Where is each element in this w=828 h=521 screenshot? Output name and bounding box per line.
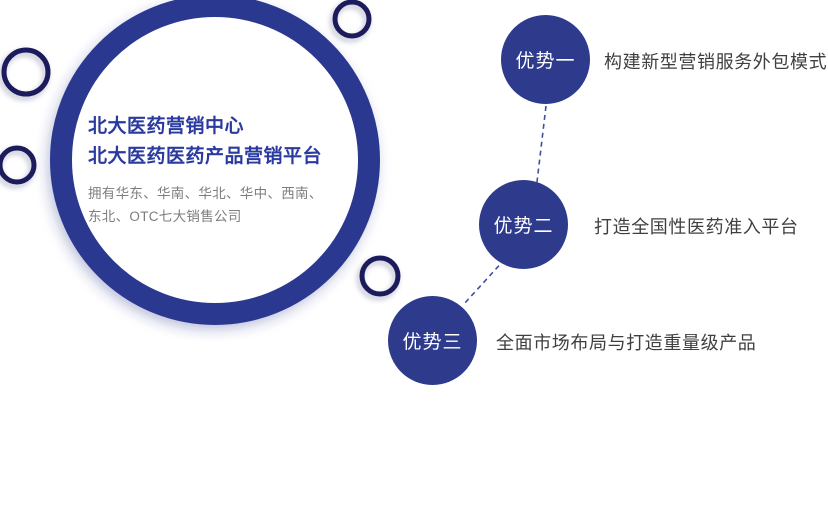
advantage-description-1: 构建新型营销服务外包模式 [604, 48, 827, 74]
hero-subtitle-line-2: 东北、OTC七大销售公司 [88, 205, 338, 228]
infographic-canvas: 北大医药营销中心 北大医药医药产品营销平台 拥有华东、华南、华北、华中、西南、 … [0, 0, 828, 521]
connector-advantage-2-3 [464, 259, 505, 304]
advantage-badge-1[interactable]: 优势一 [501, 15, 590, 104]
ring-top-icon [335, 2, 369, 36]
decorative-artwork [0, 0, 828, 521]
hero-subtitle-line-1: 拥有华东、华南、华北、华中、西南、 [88, 182, 338, 205]
hero-title-line-1: 北大医药营销中心 [88, 112, 338, 142]
hero-text-block: 北大医药营销中心 北大医药医药产品营销平台 拥有华东、华南、华北、华中、西南、 … [88, 112, 338, 228]
advantage-description-3: 全面市场布局与打造重量级产品 [496, 329, 756, 355]
advantage-description-2: 打造全国性医药准入平台 [594, 213, 799, 239]
advantage-badge-2[interactable]: 优势二 [479, 180, 568, 269]
ring-right-icon [362, 258, 398, 294]
ring-left-upper-icon [4, 50, 48, 94]
hero-subtitle: 拥有华东、华南、华北、华中、西南、 东北、OTC七大销售公司 [88, 182, 338, 228]
connector-advantage-1-2 [537, 106, 546, 182]
ring-left-lower-icon [0, 148, 34, 182]
advantage-badge-3[interactable]: 优势三 [388, 296, 477, 385]
hero-title-line-2: 北大医药医药产品营销平台 [88, 142, 338, 172]
